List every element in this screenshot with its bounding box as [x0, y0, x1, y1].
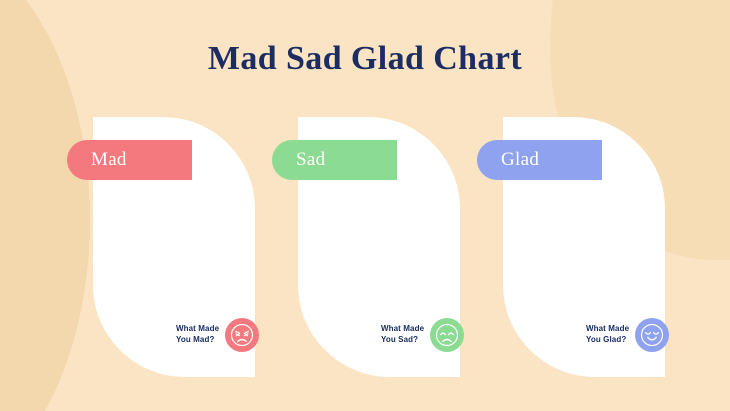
happy-face-icon[interactable]: [635, 318, 669, 352]
prompt-glad: What Made You Glad?: [586, 324, 629, 346]
prompt-mad: What Made You Mad?: [176, 324, 219, 346]
badge-mad[interactable]: Mad: [67, 140, 192, 180]
badge-label-sad: Sad: [296, 149, 325, 171]
footer-sad: What Made You Sad?: [381, 318, 464, 352]
footer-mad: What Made You Mad?: [176, 318, 259, 352]
angry-face-icon[interactable]: [225, 318, 259, 352]
prompt-sad: What Made You Sad?: [381, 324, 424, 346]
badge-label-mad: Mad: [91, 149, 127, 171]
page-title: Mad Sad Glad Chart: [0, 40, 730, 78]
slide-canvas: Mad Sad Glad Chart Mad Sad Glad What Mad…: [0, 0, 730, 411]
badge-glad[interactable]: Glad: [477, 140, 602, 180]
badge-sad[interactable]: Sad: [272, 140, 397, 180]
footer-glad: What Made You Glad?: [586, 318, 669, 352]
badge-label-glad: Glad: [501, 149, 539, 171]
sad-face-icon[interactable]: [430, 318, 464, 352]
